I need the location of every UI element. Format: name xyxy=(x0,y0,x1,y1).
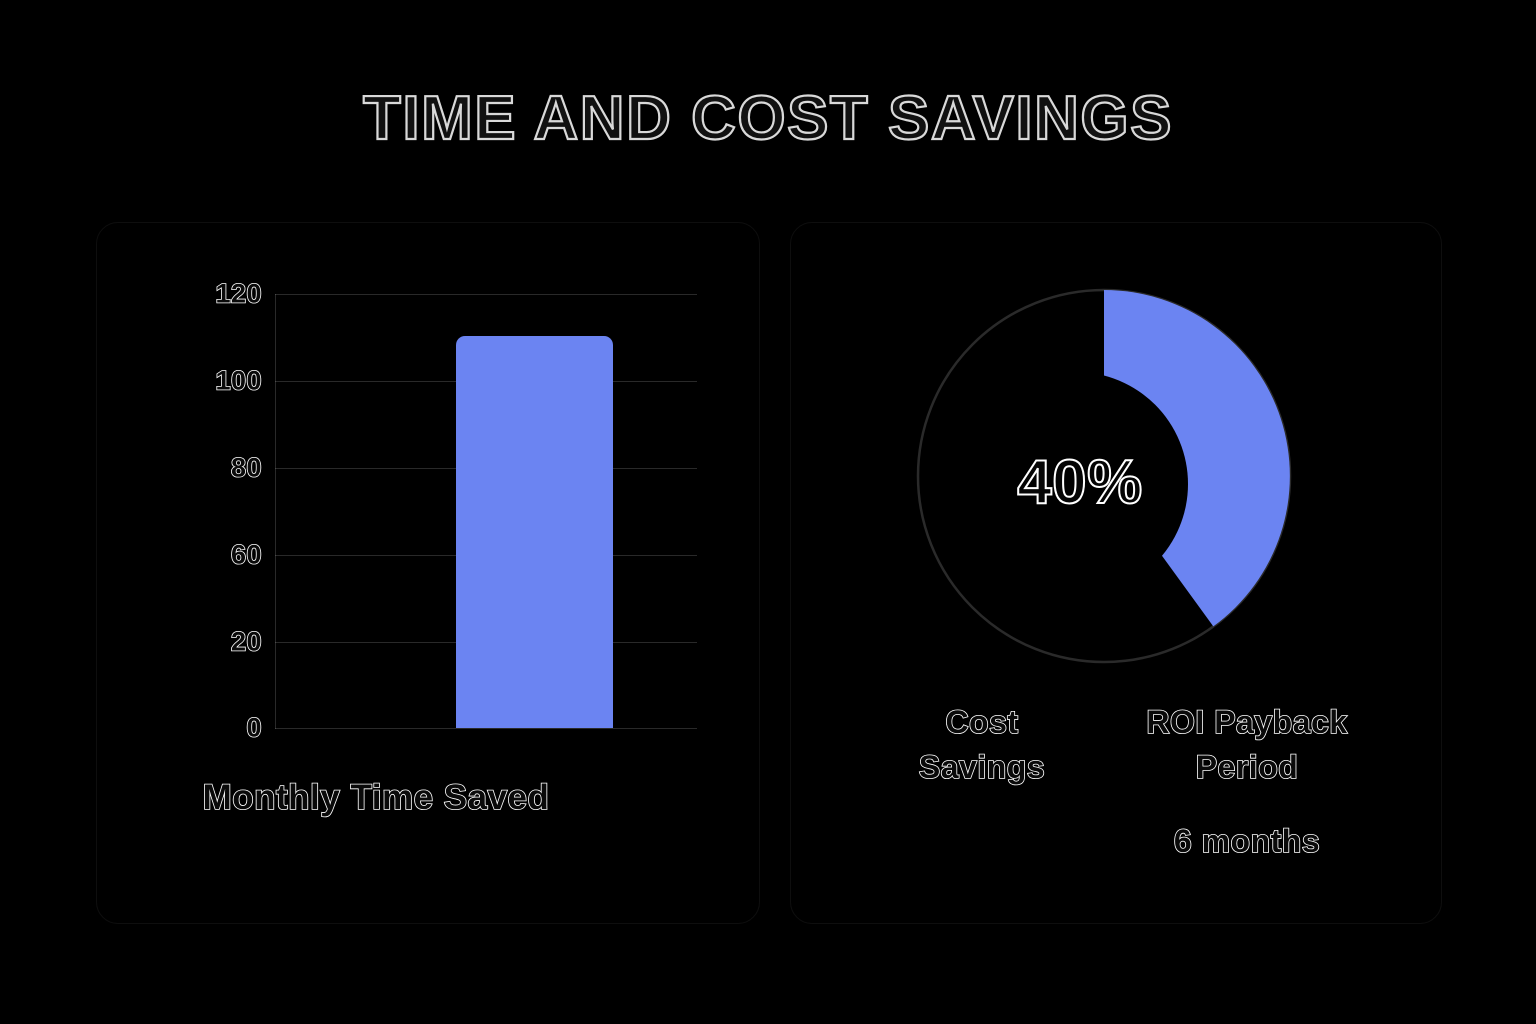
pie-chart: 40% Cost Savings ROI Payback Period 6 mo… xyxy=(790,0,1440,900)
y-axis-tick-label: 0 xyxy=(196,713,262,744)
metric-roi-payback-value: 6 months xyxy=(1082,819,1412,864)
y-axis-tick-label: 100 xyxy=(196,366,262,397)
metric-roi-payback: ROI Payback Period 6 months xyxy=(1082,700,1412,864)
metric-cost-savings-line2: Savings xyxy=(919,749,1045,785)
y-axis-tick-label: 80 xyxy=(196,453,262,484)
pie-svg xyxy=(916,288,1292,664)
gridline-0 xyxy=(275,728,697,729)
gridline-120 xyxy=(275,294,697,295)
metric-roi-payback-line2: Period xyxy=(1196,749,1299,785)
bar-category-label: Monthly Time Saved xyxy=(140,778,612,818)
metric-roi-payback-line1: ROI Payback xyxy=(1146,704,1347,740)
pie-metric-labels: Cost Savings ROI Payback Period 6 months xyxy=(790,700,1440,880)
chart-canvas: TIME AND COST SAVINGS 120 100 80 60 20 xyxy=(0,0,1536,1024)
y-axis-tick-label: 120 xyxy=(196,279,262,310)
bar-monthly-time-saved xyxy=(456,336,613,728)
pie-center-disc xyxy=(964,372,1188,596)
bar-chart: 120 100 80 60 20 0 Monthly Time Saved xyxy=(0,0,760,900)
metric-cost-savings-line1: Cost xyxy=(945,704,1018,740)
y-axis-tick-label: 60 xyxy=(196,540,262,571)
y-axis-line xyxy=(275,294,276,729)
y-axis-tick-label: 20 xyxy=(196,627,262,658)
